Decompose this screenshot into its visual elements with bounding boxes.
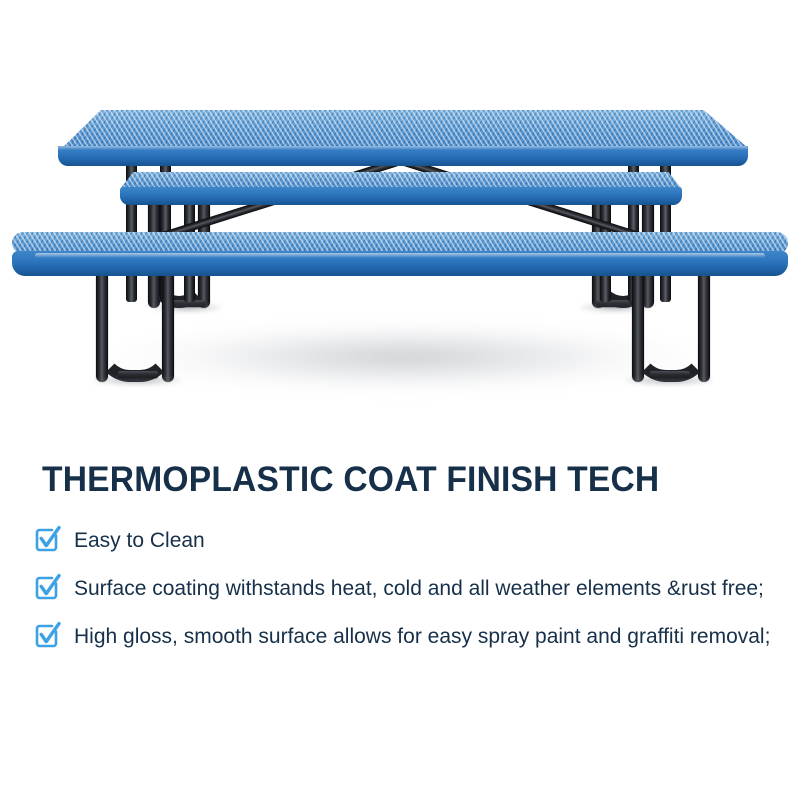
list-item: High gloss, smooth surface allows for ea… [34,619,779,655]
checkbox-check-icon [34,574,60,600]
checkbox-check-icon [34,622,60,648]
product-feature-page: THERMOPLASTIC COAT FINISH TECH Easy to C… [0,0,800,800]
list-item-label: Easy to Clean [74,523,779,559]
contact-shadow [624,376,714,385]
list-item-label: Surface coating withstands heat, cold an… [74,571,779,607]
table-top-edge-highlight [58,146,748,150]
contact-shadow [92,376,182,385]
rear-bench-seat [120,172,682,205]
table-top-mesh-surface [58,110,748,148]
front-bench-seat [12,232,788,276]
product-image [0,0,800,445]
feature-text-block: THERMOPLASTIC COAT FINISH TECH Easy to C… [0,445,800,800]
rear-bench-edge-band [120,187,682,205]
checkbox-check-icon [34,526,60,552]
table-top-panel [58,110,748,166]
list-item: Easy to Clean [34,523,779,559]
feature-list: Easy to Clean Surface coating withstands… [34,523,779,667]
product-scene [0,0,800,445]
page-title: THERMOPLASTIC COAT FINISH TECH [42,460,752,500]
floor-shadow [95,318,715,396]
list-item: Surface coating withstands heat, cold an… [34,571,779,607]
list-item-label: High gloss, smooth surface allows for ea… [74,619,779,655]
front-bench-edge-highlight [35,253,764,258]
